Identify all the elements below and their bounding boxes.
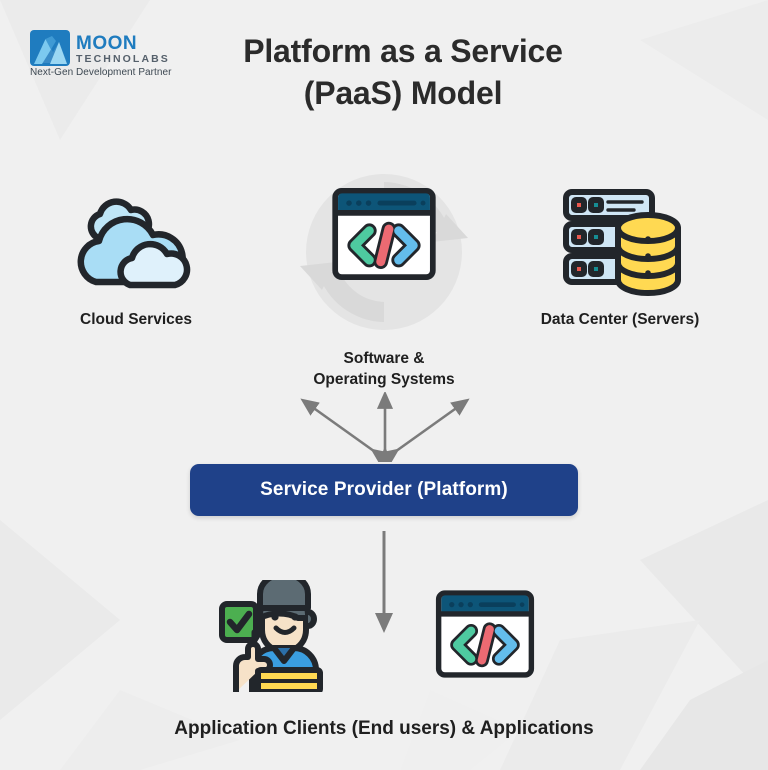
page-title-line-2: (PaaS) Model bbox=[38, 72, 768, 114]
fan-arrow-up-left bbox=[308, 404, 378, 454]
client-node-end-users[interactable] bbox=[214, 580, 330, 697]
resource-node-software-os[interactable]: Software & Operating Systems bbox=[275, 164, 493, 391]
client-node-applications[interactable] bbox=[434, 586, 536, 687]
cloud-icon bbox=[74, 190, 198, 300]
page-title-line-1: Platform as a Service bbox=[38, 30, 768, 72]
fan-arrow-up-right bbox=[392, 404, 462, 454]
titlebar-dots bbox=[346, 200, 371, 206]
code-browser-icon bbox=[318, 164, 450, 282]
header: MOON TECHNOLABS Next-Gen Development Par… bbox=[0, 0, 768, 145]
resource-node-cloud-services[interactable]: Cloud Services bbox=[36, 190, 236, 331]
titlebar-dots bbox=[449, 602, 473, 607]
software-icon-wrapper bbox=[275, 164, 493, 339]
bidirectional-fan-arrows bbox=[290, 392, 480, 462]
page-title: Platform as a Service (PaaS) Model bbox=[0, 30, 768, 114]
end-user-person-icon bbox=[214, 580, 330, 692]
resource-node-label: Cloud Services bbox=[36, 310, 236, 331]
code-browser-icon bbox=[434, 586, 536, 682]
server-database-icon bbox=[550, 182, 690, 300]
client-layer bbox=[0, 580, 768, 705]
resource-node-data-center[interactable]: Data Center (Servers) bbox=[520, 182, 720, 331]
client-layer-caption: Application Clients (End users) & Applic… bbox=[0, 718, 768, 740]
platform-bar[interactable]: Service Provider (Platform) bbox=[190, 464, 578, 516]
resource-node-label: Software & Operating Systems bbox=[275, 349, 493, 391]
resource-node-label: Data Center (Servers) bbox=[520, 310, 720, 331]
resource-layer: Cloud Services bbox=[0, 160, 768, 385]
platform-bar-label: Service Provider (Platform) bbox=[260, 479, 508, 501]
